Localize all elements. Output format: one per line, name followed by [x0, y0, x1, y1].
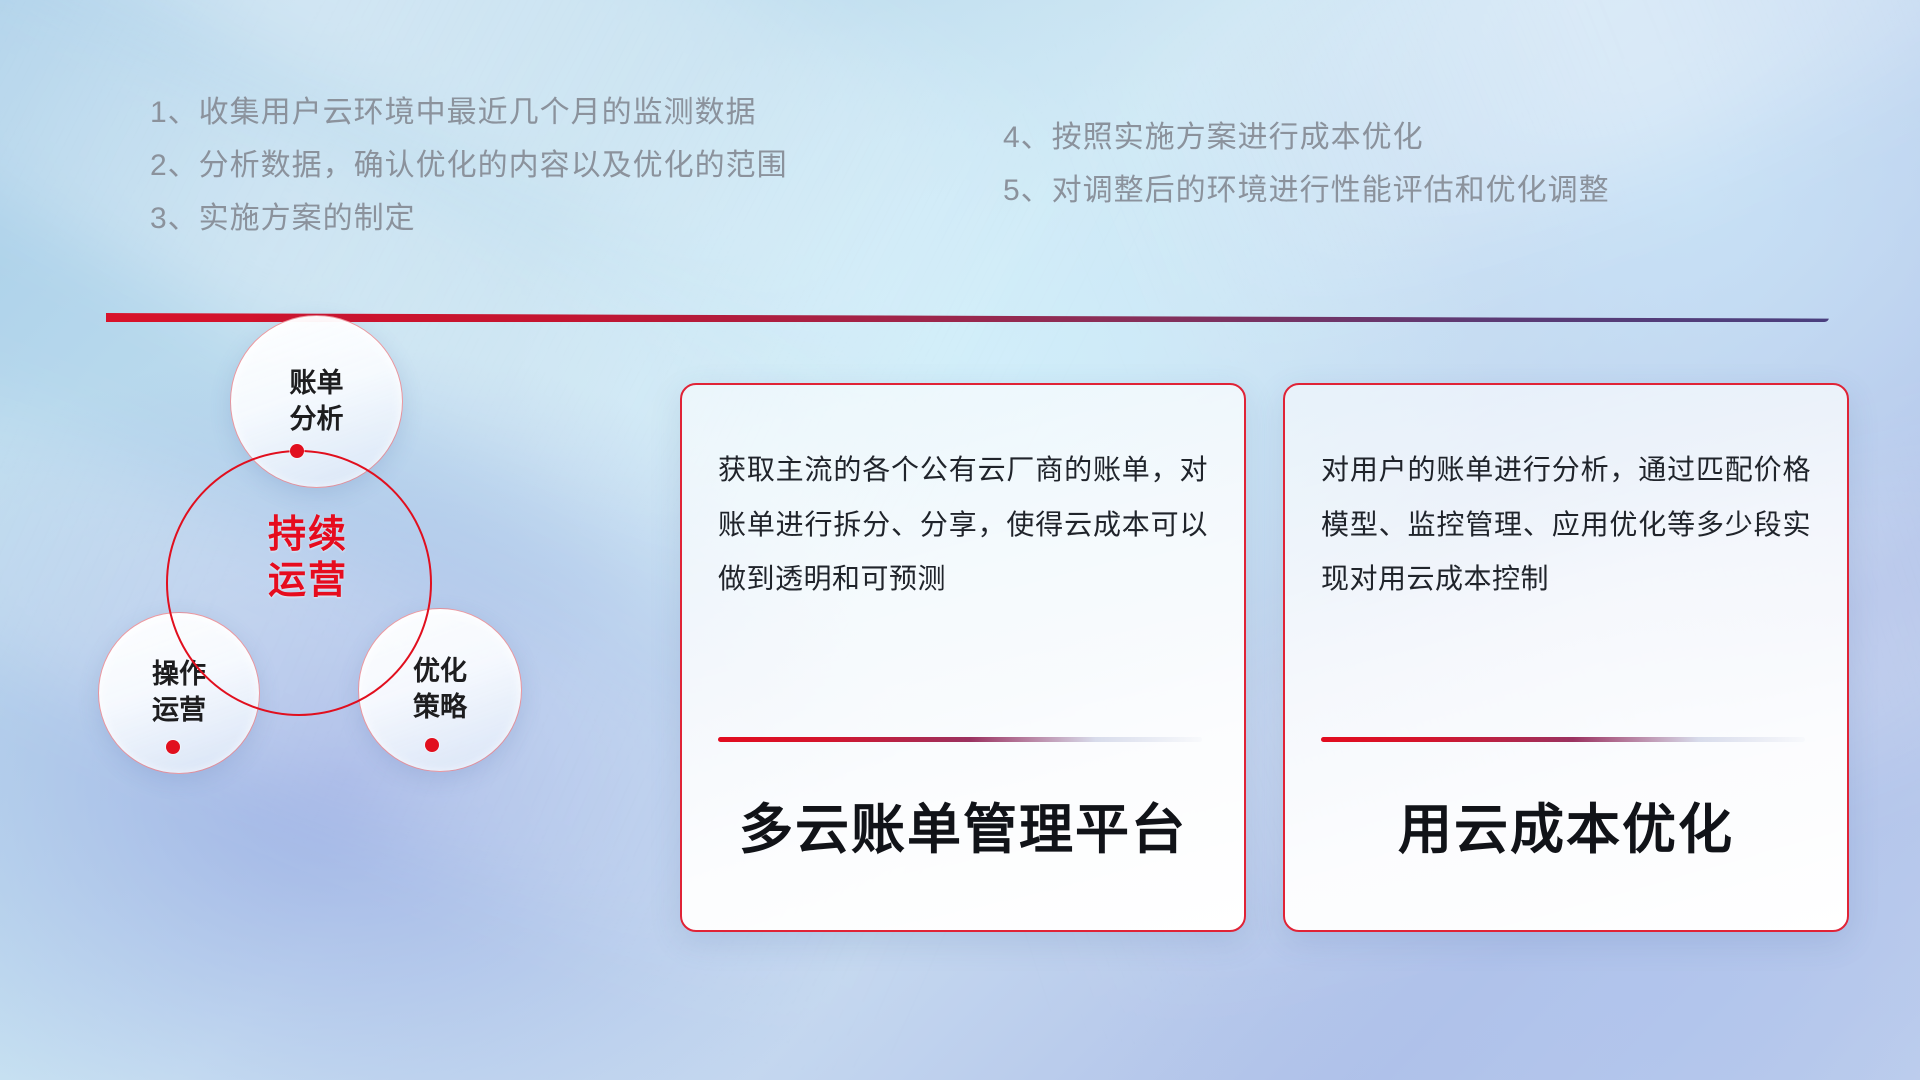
diagram-node-top-icon — [290, 444, 304, 458]
step-item-5: 5、对调整后的环境进行性能评估和优化调整 — [1003, 176, 1610, 206]
bubble-label-line2: 策略 — [413, 690, 467, 726]
center-label-line1: 持续 — [238, 512, 378, 558]
step-item-4: 4、按照实施方案进行成本优化 — [1003, 123, 1610, 153]
step-item-2: 2、分析数据，确认优化的内容以及优化的范围 — [150, 151, 788, 181]
bubble-label-line2: 运营 — [152, 693, 206, 729]
diagram-center-label: 持续 运营 — [238, 512, 378, 605]
card-body-text: 获取主流的各个公有云厂商的账单，对账单进行拆分、分享，使得云成本可以做到透明和可… — [718, 443, 1208, 607]
card-divider — [718, 737, 1202, 742]
step-item-1: 1、收集用户云环境中最近几个月的监测数据 — [150, 98, 788, 128]
bubble-label-line1: 优化 — [413, 654, 467, 690]
feature-card-multicloud-billing[interactable]: 获取主流的各个公有云厂商的账单，对账单进行拆分、分享，使得云成本可以做到透明和可… — [680, 383, 1246, 932]
bubble-label-line2: 分析 — [290, 402, 344, 438]
center-label-line2: 运营 — [238, 558, 378, 604]
card-title: 多云账单管理平台 — [718, 785, 1208, 864]
diagram-node-right-icon — [425, 738, 439, 752]
steps-list-right: 4、按照实施方案进行成本优化 5、对调整后的环境进行性能评估和优化调整 — [1003, 123, 1610, 229]
step-item-3: 3、实施方案的制定 — [150, 204, 788, 234]
feature-card-cloud-cost-optimization[interactable]: 对用户的账单进行分析，通过匹配价格模型、监控管理、应用优化等多少段实现对用云成本… — [1283, 383, 1849, 932]
slide-canvas: 1、收集用户云环境中最近几个月的监测数据 2、分析数据，确认优化的内容以及优化的… — [0, 0, 1920, 1080]
continuous-operation-diagram: 账单 分析 操作 运营 优化 策略 持续 运营 — [90, 340, 560, 920]
bubble-label-line1: 账单 — [290, 366, 344, 402]
card-body-text: 对用户的账单进行分析，通过匹配价格模型、监控管理、应用优化等多少段实现对用云成本… — [1321, 443, 1811, 607]
card-divider — [1321, 737, 1805, 742]
section-divider — [106, 313, 1829, 322]
card-title: 用云成本优化 — [1321, 785, 1811, 864]
diagram-node-left-icon — [166, 740, 180, 754]
steps-list-left: 1、收集用户云环境中最近几个月的监测数据 2、分析数据，确认优化的内容以及优化的… — [150, 98, 788, 257]
